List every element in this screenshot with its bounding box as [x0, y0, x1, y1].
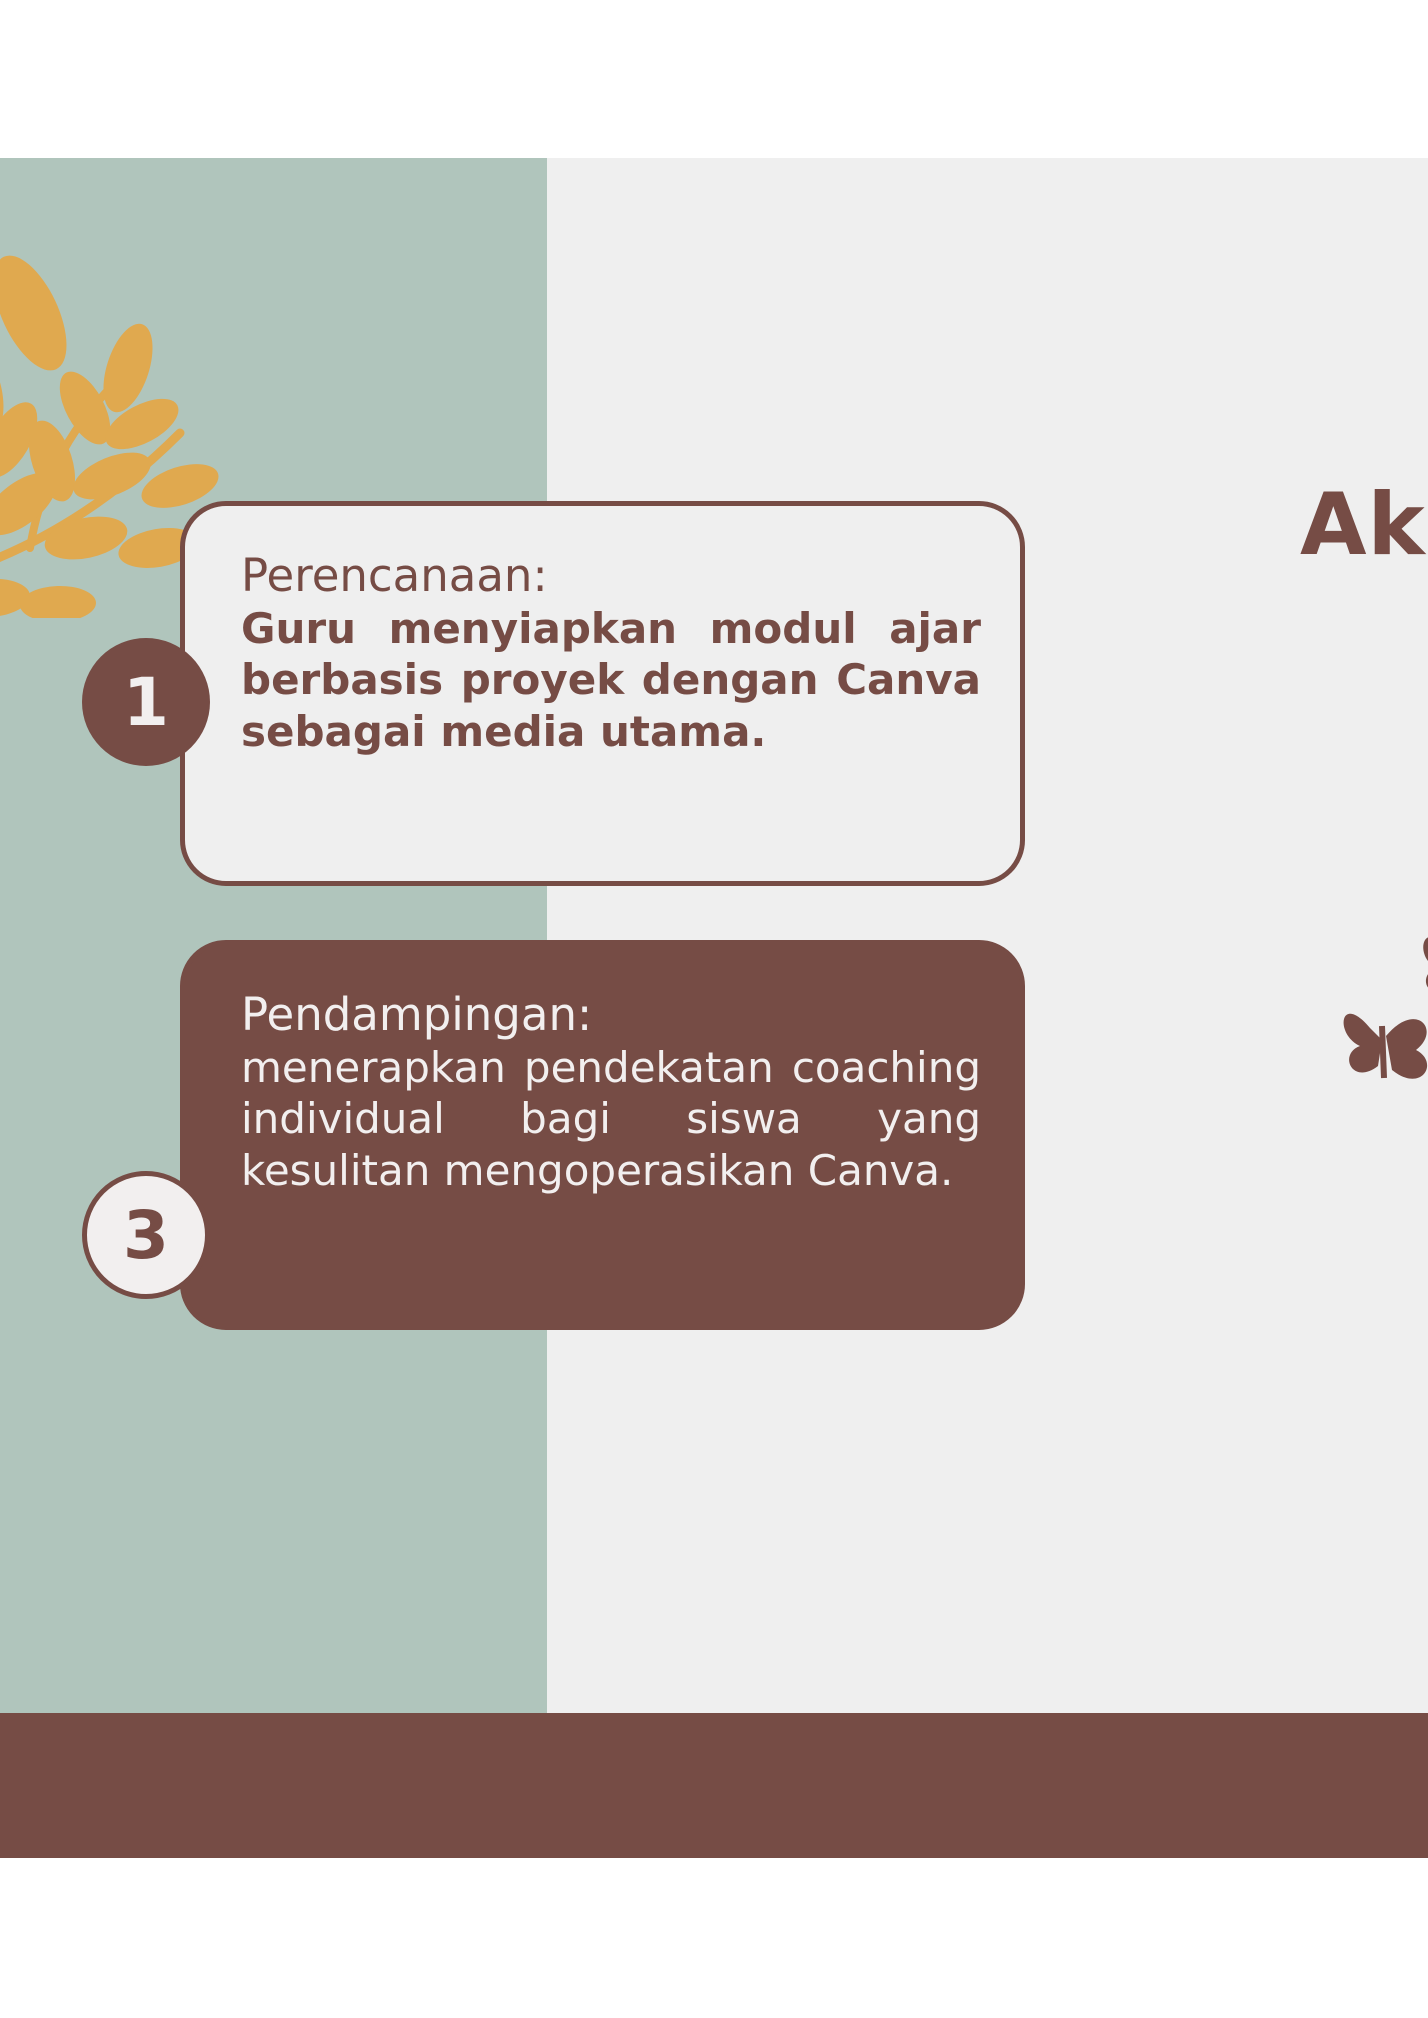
step-card-2-body: Pendampingan: menerapkan pendekatan coac…: [241, 991, 981, 1196]
step-card-2[interactable]: Pendampingan: menerapkan pendekatan coac…: [180, 940, 1025, 1330]
step-card-1[interactable]: Perencanaan: Guru menyiapkan modul ajar …: [180, 501, 1025, 886]
step-card-1-body: Perencanaan: Guru menyiapkan modul ajar …: [241, 552, 981, 757]
step-card-1-text: Guru menyiapkan modul ajar berbasis proy…: [241, 603, 981, 757]
footer-bar: [0, 1713, 1428, 1858]
page-title: Ak: [1300, 475, 1426, 575]
step-badge-1: 1: [82, 638, 210, 766]
step-card-1-title: Perencanaan:: [241, 552, 981, 599]
step-badge-3: 3: [82, 1171, 210, 1299]
step-card-2-title: Pendampingan:: [241, 991, 981, 1038]
slide-canvas: Ak Perencanaan: Guru menyiapkan modul aj…: [0, 158, 1428, 1858]
step-card-2-text: menerapkan pendekatan coaching individua…: [241, 1042, 981, 1196]
